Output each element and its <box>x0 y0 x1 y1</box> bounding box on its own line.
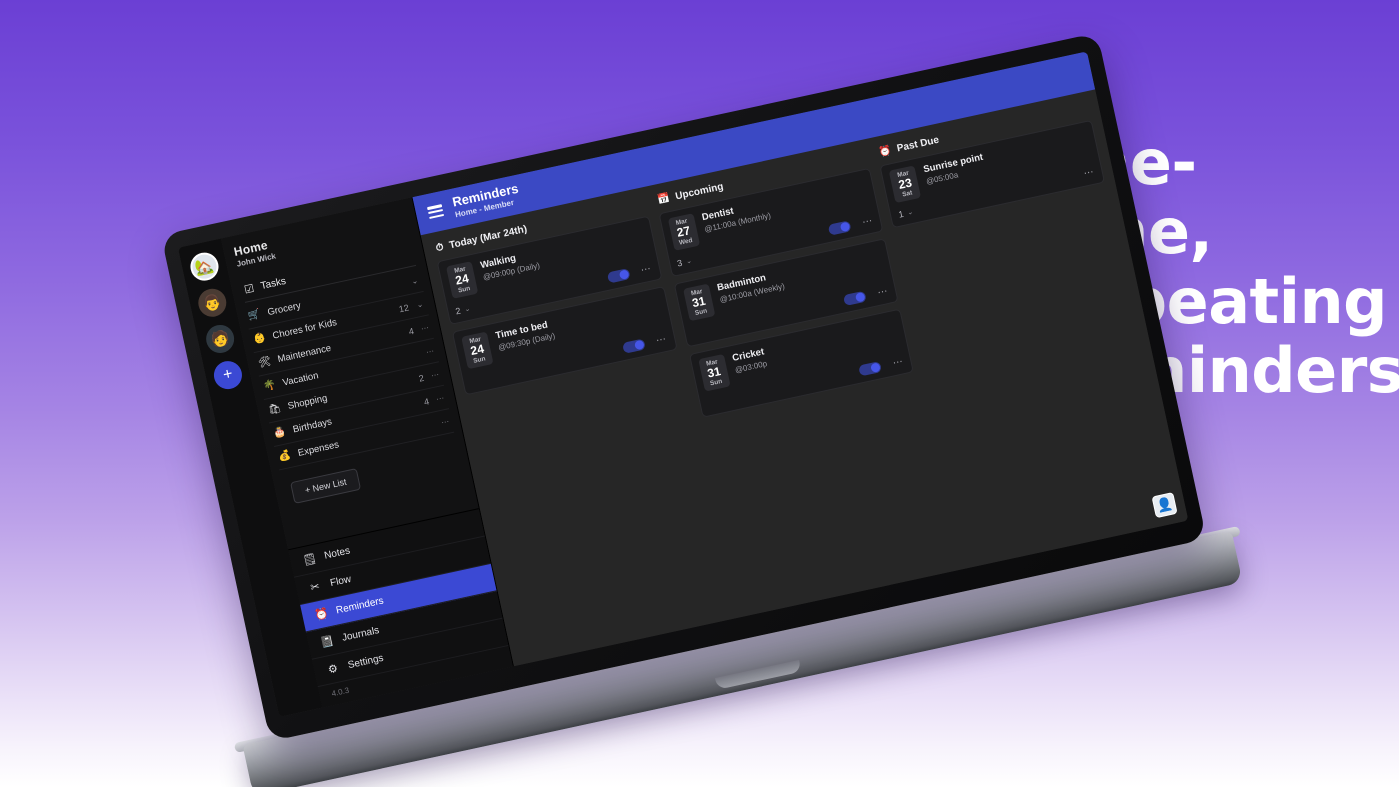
date-chip: Mar 31 Sun <box>683 284 715 322</box>
date-chip: Mar 31 Sun <box>698 354 730 392</box>
laptop-lid: 🏡 👨 🧑 + Home John Wic <box>161 33 1207 742</box>
section-count[interactable]: 2 ⌄ <box>455 303 472 316</box>
notes-icon: 🗒 <box>302 552 317 567</box>
maintenance-icon: 🛠 <box>257 356 272 369</box>
home-avatar[interactable]: 🏡 <box>188 250 221 283</box>
list-item-count: 4 <box>415 396 430 409</box>
profile-fab-button[interactable]: 👤 <box>1152 492 1178 518</box>
section-title: Upcoming <box>674 182 724 203</box>
more-options-icon[interactable]: ⋯ <box>640 266 652 274</box>
more-options-icon[interactable]: ··· <box>425 346 436 357</box>
count-value: 2 <box>455 305 462 316</box>
reminder-toggle[interactable] <box>622 339 646 354</box>
list-item-count <box>406 354 419 357</box>
date-chip: Mar 24 Sun <box>446 261 478 299</box>
flow-icon: ✂ <box>307 579 322 594</box>
count-value: 3 <box>676 257 683 268</box>
add-member-button[interactable]: + <box>211 358 244 391</box>
clock-icon: ⏱ <box>435 242 445 254</box>
chevron-down-icon: ⌄ <box>907 208 914 217</box>
nav-label: Reminders <box>335 595 385 616</box>
section-today: ⏱ Today (Mar 24th) Mar 24 Sun <box>432 196 678 402</box>
expenses-icon: 💰 <box>277 450 292 463</box>
section-count[interactable]: 1 ⌄ <box>898 207 915 220</box>
section-count[interactable]: 3 ⌄ <box>676 255 693 268</box>
more-options-icon[interactable]: ··· <box>440 416 451 427</box>
count-value: 1 <box>898 209 905 220</box>
reminder-toggle[interactable] <box>859 361 883 376</box>
nav-label: Flow <box>329 574 352 589</box>
nav-label: Notes <box>323 545 351 561</box>
laptop-mockup: 🏡 👨 🧑 + Home John Wic <box>116 23 1290 787</box>
reminder-toggle[interactable] <box>828 221 852 236</box>
date-chip: Mar 24 Sun <box>461 332 493 370</box>
section-upcoming: 📅 Upcoming Mar 27 Wed <box>654 148 916 424</box>
nav-label: Journals <box>341 625 380 644</box>
list-item-count: 12 <box>395 302 410 315</box>
member-avatar-1-glyph: 👨 <box>201 292 223 314</box>
vacation-icon: 🌴 <box>262 379 277 392</box>
calendar-icon: 📅 <box>656 193 670 206</box>
tasks-label: Tasks <box>260 276 287 292</box>
more-options-icon[interactable]: ··· <box>435 393 446 404</box>
list-item-count: 4 <box>400 325 415 338</box>
checkbox-icon: ☑ <box>243 282 255 297</box>
reminders-header-text: Reminders Home - Member <box>451 182 522 220</box>
more-options-icon[interactable]: ⋯ <box>892 359 904 367</box>
more-options-icon[interactable]: ⋯ <box>1083 170 1095 178</box>
section-title: Past Due <box>896 135 940 155</box>
more-options-icon[interactable]: ⋯ <box>877 288 889 296</box>
list-item-count <box>421 424 434 427</box>
chores-icon: 👶 <box>252 332 267 345</box>
birthdays-icon: 🎂 <box>272 426 287 439</box>
chevron-down-icon: ⌄ <box>685 256 692 265</box>
member-avatar-2-glyph: 🧑 <box>209 328 231 350</box>
add-member-label: + <box>222 366 235 384</box>
chevron-down-icon: ⌄ <box>464 304 471 313</box>
reminder-toggle[interactable] <box>843 291 867 306</box>
journals-icon: 📓 <box>319 634 334 649</box>
alarm-icon: ⏰ <box>878 145 892 158</box>
new-list-button[interactable]: + New List <box>290 468 361 504</box>
reminder-toggle[interactable] <box>607 268 631 283</box>
chevron-down-icon[interactable]: ⌄ <box>415 299 426 310</box>
shopping-icon: 🛍 <box>267 403 282 416</box>
grocery-icon: 🛒 <box>247 309 262 322</box>
hamburger-icon[interactable] <box>427 204 444 219</box>
chevron-down-icon[interactable]: ⌄ <box>409 276 420 287</box>
more-options-icon[interactable]: ⋯ <box>656 336 668 344</box>
more-options-icon[interactable]: ··· <box>430 369 441 380</box>
nav-label: Settings <box>347 653 385 671</box>
list-item-count <box>391 283 404 286</box>
more-options-icon[interactable]: ··· <box>420 323 431 334</box>
list-item-count: 2 <box>410 372 425 385</box>
more-options-icon[interactable]: ⋯ <box>862 218 874 226</box>
date-chip: Mar 27 Wed <box>668 213 700 251</box>
member-avatar-2[interactable]: 🧑 <box>203 322 236 355</box>
promo-stage: One-time, Repeating Reminders 🏡 👨 🧑 <box>0 0 1399 787</box>
member-avatar-1[interactable]: 👨 <box>196 286 229 319</box>
profile-avatar-glyph: 👤 <box>1155 496 1174 515</box>
date-chip: Mar 23 Sat <box>889 166 921 204</box>
gear-icon: ⚙ <box>325 661 340 676</box>
home-avatar-glyph: 🏡 <box>193 256 215 278</box>
reminders-icon: ⏰ <box>313 607 328 622</box>
